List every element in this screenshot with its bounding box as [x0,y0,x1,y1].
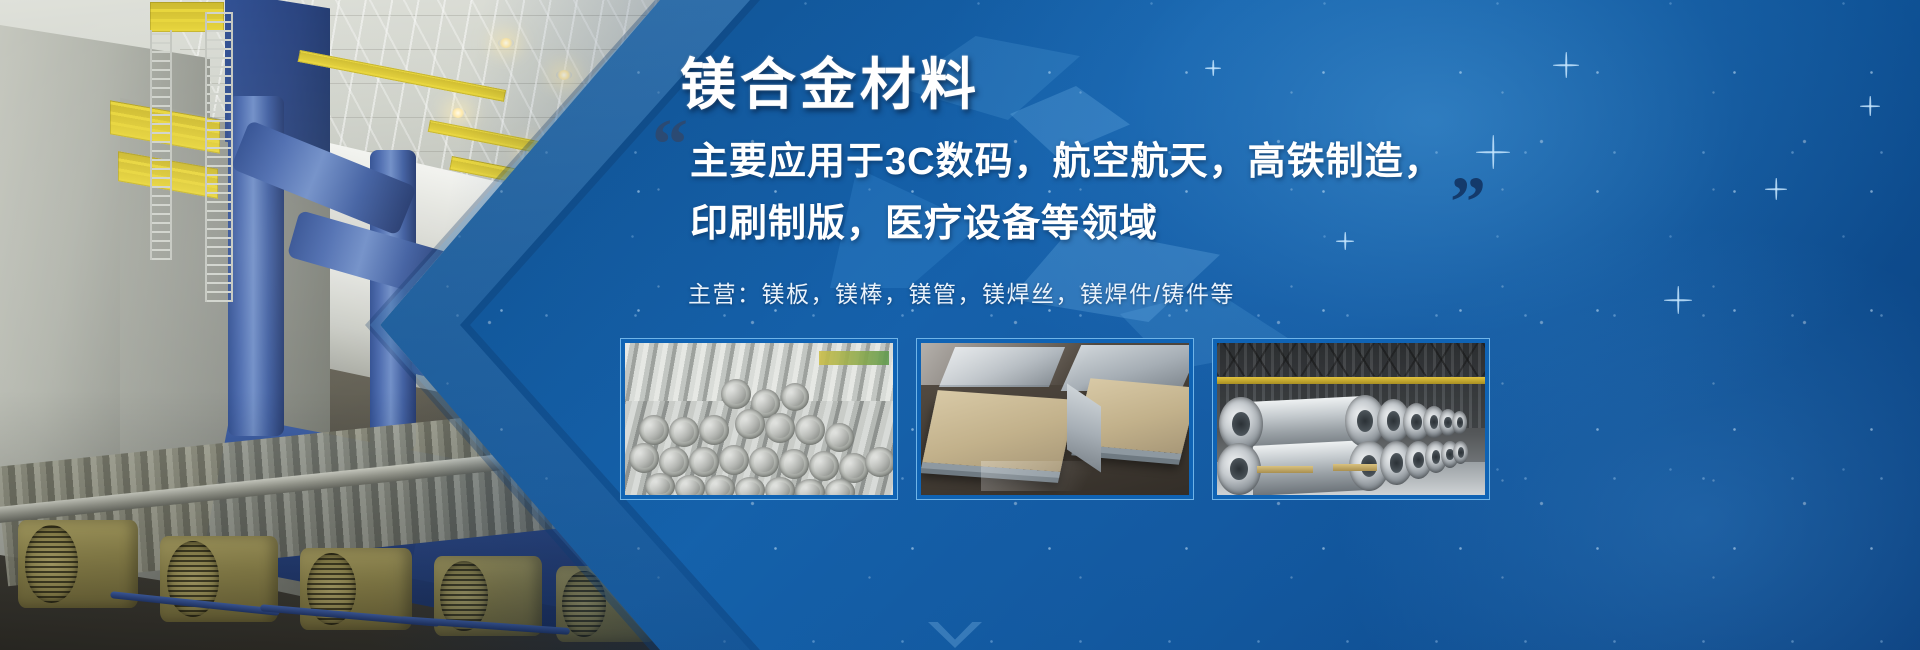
bar-end-face [675,475,705,495]
product-thumbnail-magnesium-coils[interactable] [1212,338,1490,500]
product-thumbnail-row [620,338,1490,500]
product-thumbnail-magnesium-plates[interactable] [916,338,1194,500]
plate-highlight [921,343,1189,385]
bar-end-face [699,415,729,445]
bar-end-face [749,447,779,477]
bar-end-face [809,451,839,481]
banner-content: 镁合金材料 “ 主要应用于3C数码，航空航天，高铁制造， 印刷制版，医疗设备等领… [680,0,1920,650]
thumbnail-image-coils [1217,343,1485,495]
warehouse-roof-truss [1217,343,1485,376]
background-sheet [819,351,889,365]
thumbnail-image-plates [921,343,1189,495]
bar-end-face [779,449,809,479]
bar-end-face [825,423,854,452]
coil-end [1452,411,1467,434]
product-thumbnail-magnesium-bars[interactable] [620,338,898,500]
warehouse-yellow-beam [1217,377,1485,384]
plate-stack-front-left [922,390,1075,472]
bar-end-face [781,383,809,411]
bar-end-face [735,409,765,439]
main-business-text: 主营：镁板，镁棒，镁管，镁焊丝，镁焊件/铸件等 [688,275,1235,309]
page-title: 镁合金材料 [680,40,980,121]
bar-end-face [705,475,735,495]
bar-end-face [865,447,893,477]
bar-end-face [721,379,751,409]
bar-end-face [689,447,719,477]
bar-end-face [669,417,699,447]
bar-end-face [795,415,825,445]
quote-open-mark: “ [652,108,688,180]
coil-end [1217,443,1261,495]
quote-close-mark: ” [1450,166,1486,238]
bar-end-face [639,415,669,445]
product-banner: 镁合金材料 “ 主要应用于3C数码，航空航天，高铁制造， 印刷制版，医疗设备等领… [0,0,1920,650]
coil-end [1453,441,1468,464]
bar-end-face [765,413,795,443]
bar-end-face [629,443,659,473]
thumbnail-image-bars [625,343,893,495]
plate-highlight [981,461,1161,491]
wooden-skid [1333,464,1377,471]
bar-end-face [645,473,675,495]
bar-end-face [719,445,749,475]
wooden-skid [1257,466,1313,473]
